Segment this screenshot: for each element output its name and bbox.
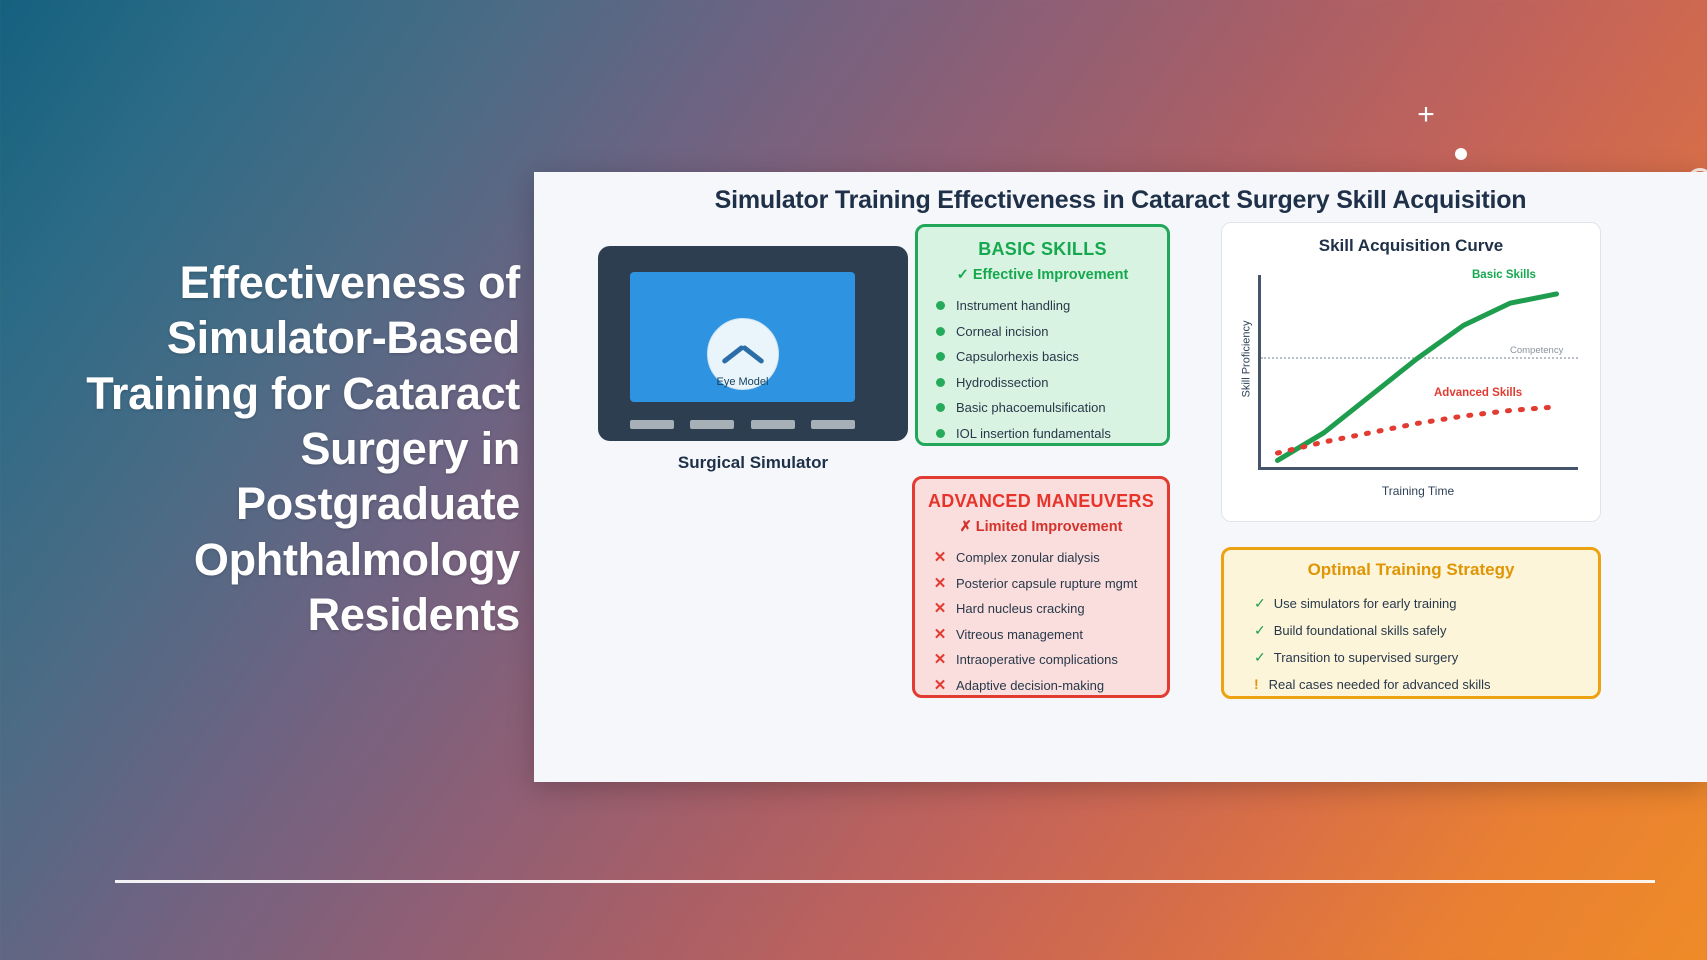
infographic-panel: Simulator Training Effectiveness in Cata…	[534, 172, 1707, 782]
dot-icon	[1455, 148, 1467, 160]
simulator-caption: Surgical Simulator	[598, 453, 908, 473]
bullet-dot-icon	[936, 429, 945, 438]
list-item-label: Instrument handling	[956, 296, 1070, 316]
check-icon: ✓	[1254, 593, 1266, 614]
list-item: ✕Adaptive decision-making	[915, 673, 1167, 699]
list-item: ✓Transition to supervised surgery	[1254, 644, 1598, 671]
cross-icon: ✕	[933, 652, 947, 667]
simulator-button	[630, 420, 674, 429]
list-item: IOL insertion fundamentals	[918, 421, 1167, 447]
cross-icon: ✕	[933, 627, 947, 642]
surgical-simulator-illustration: Eye Model Surgical Simulator	[598, 246, 908, 473]
cross-icon: ✕	[933, 678, 947, 693]
list-item-label: Posterior capsule rupture mgmt	[956, 574, 1137, 594]
list-item: Hydrodissection	[918, 370, 1167, 396]
list-item-label: Vitreous management	[956, 625, 1083, 645]
list-item-label: Corneal incision	[956, 322, 1049, 342]
bullet-dot-icon	[936, 301, 945, 310]
simulator-button	[690, 420, 734, 429]
advanced-maneuvers-subtitle: ✗ Limited Improvement	[915, 519, 1167, 535]
warning-icon: !	[1254, 674, 1259, 695]
cross-icon: ✕	[933, 550, 947, 565]
simulator-button	[751, 420, 795, 429]
chart-curves	[1258, 275, 1578, 470]
bullet-dot-icon	[936, 352, 945, 361]
list-item-label: Basic phacoemulsification	[956, 398, 1106, 418]
bullet-dot-icon	[936, 327, 945, 336]
list-item-label: Adaptive decision-making	[956, 676, 1104, 696]
chart-plot-area: Skill Proficiency Training Time Competen…	[1258, 275, 1578, 470]
check-icon: ✓	[1254, 647, 1266, 668]
basic-skills-card: BASIC SKILLS ✓ Effective Improvement Ins…	[915, 224, 1170, 446]
check-icon: ✓	[1254, 620, 1266, 641]
chart-y-axis-label: Skill Proficiency	[1241, 320, 1253, 397]
list-item: ✕Intraoperative complications	[915, 647, 1167, 673]
list-item: ✕Hard nucleus cracking	[915, 596, 1167, 622]
simulator-body: Eye Model	[598, 246, 908, 441]
simulator-screen: Eye Model	[630, 272, 855, 402]
cross-icon: ✕	[933, 601, 947, 616]
advanced-maneuvers-card: ADVANCED MANEUVERS ✗ Limited Improvement…	[912, 476, 1170, 698]
basic-skills-list: Instrument handling Corneal incision Cap…	[918, 293, 1167, 446]
advanced-maneuvers-title: ADVANCED MANEUVERS	[915, 491, 1167, 512]
list-item-label: Hydrodissection	[956, 373, 1049, 393]
panel-title: Simulator Training Effectiveness in Cata…	[534, 186, 1707, 215]
list-item: Capsulorhexis basics	[918, 344, 1167, 370]
list-item-label: Use simulators for early training	[1274, 594, 1457, 614]
bullet-dot-icon	[936, 403, 945, 412]
skill-acquisition-chart-card: Skill Acquisition Curve Skill Proficienc…	[1221, 222, 1601, 522]
list-item: ✕Complex zonular dialysis	[915, 545, 1167, 571]
list-item-label: Intraoperative complications	[956, 650, 1118, 670]
list-item-label: Complex zonular dialysis	[956, 548, 1100, 568]
list-item: ✓Use simulators for early training	[1254, 590, 1598, 617]
advanced-maneuvers-list: ✕Complex zonular dialysis ✕Posterior cap…	[915, 545, 1167, 698]
list-item-label: Capsulorhexis basics	[956, 347, 1079, 367]
bullet-dot-icon	[936, 378, 945, 387]
simulator-button	[811, 420, 855, 429]
list-item: ✕Vitreous management	[915, 622, 1167, 648]
divider-rule	[115, 880, 1655, 883]
list-item-label: Hard nucleus cracking	[956, 599, 1085, 619]
list-item-label: IOL insertion fundamentals	[956, 424, 1111, 444]
strategy-title: Optimal Training Strategy	[1224, 560, 1598, 580]
list-item: Corneal incision	[918, 319, 1167, 345]
basic-skills-title: BASIC SKILLS	[918, 239, 1167, 260]
page-title: Effectiveness of Simulator-Based Trainin…	[60, 255, 520, 642]
chevron-up-icon	[722, 343, 764, 365]
list-item: ✓Build foundational skills safely	[1254, 617, 1598, 644]
list-item-label: Transition to supervised surgery	[1274, 648, 1459, 668]
cross-icon: ✕	[933, 576, 947, 591]
list-item: Basic phacoemulsification	[918, 395, 1167, 421]
strategy-list: ✓Use simulators for early training ✓Buil…	[1224, 590, 1598, 698]
list-item-label: Real cases needed for advanced skills	[1269, 675, 1491, 695]
list-item: ✕Posterior capsule rupture mgmt	[915, 571, 1167, 597]
chart-title: Skill Acquisition Curve	[1222, 236, 1600, 256]
plus-icon: +	[1411, 100, 1441, 130]
basic-skills-subtitle: ✓ Effective Improvement	[918, 267, 1167, 283]
eye-model-label: Eye Model	[630, 376, 855, 388]
list-item: !Real cases needed for advanced skills	[1254, 671, 1598, 698]
simulator-buttons	[630, 420, 855, 429]
chart-x-axis-label: Training Time	[1258, 484, 1578, 498]
list-item-label: Build foundational skills safely	[1274, 621, 1447, 641]
optimal-training-strategy-card: Optimal Training Strategy ✓Use simulator…	[1221, 547, 1601, 699]
list-item: Instrument handling	[918, 293, 1167, 319]
